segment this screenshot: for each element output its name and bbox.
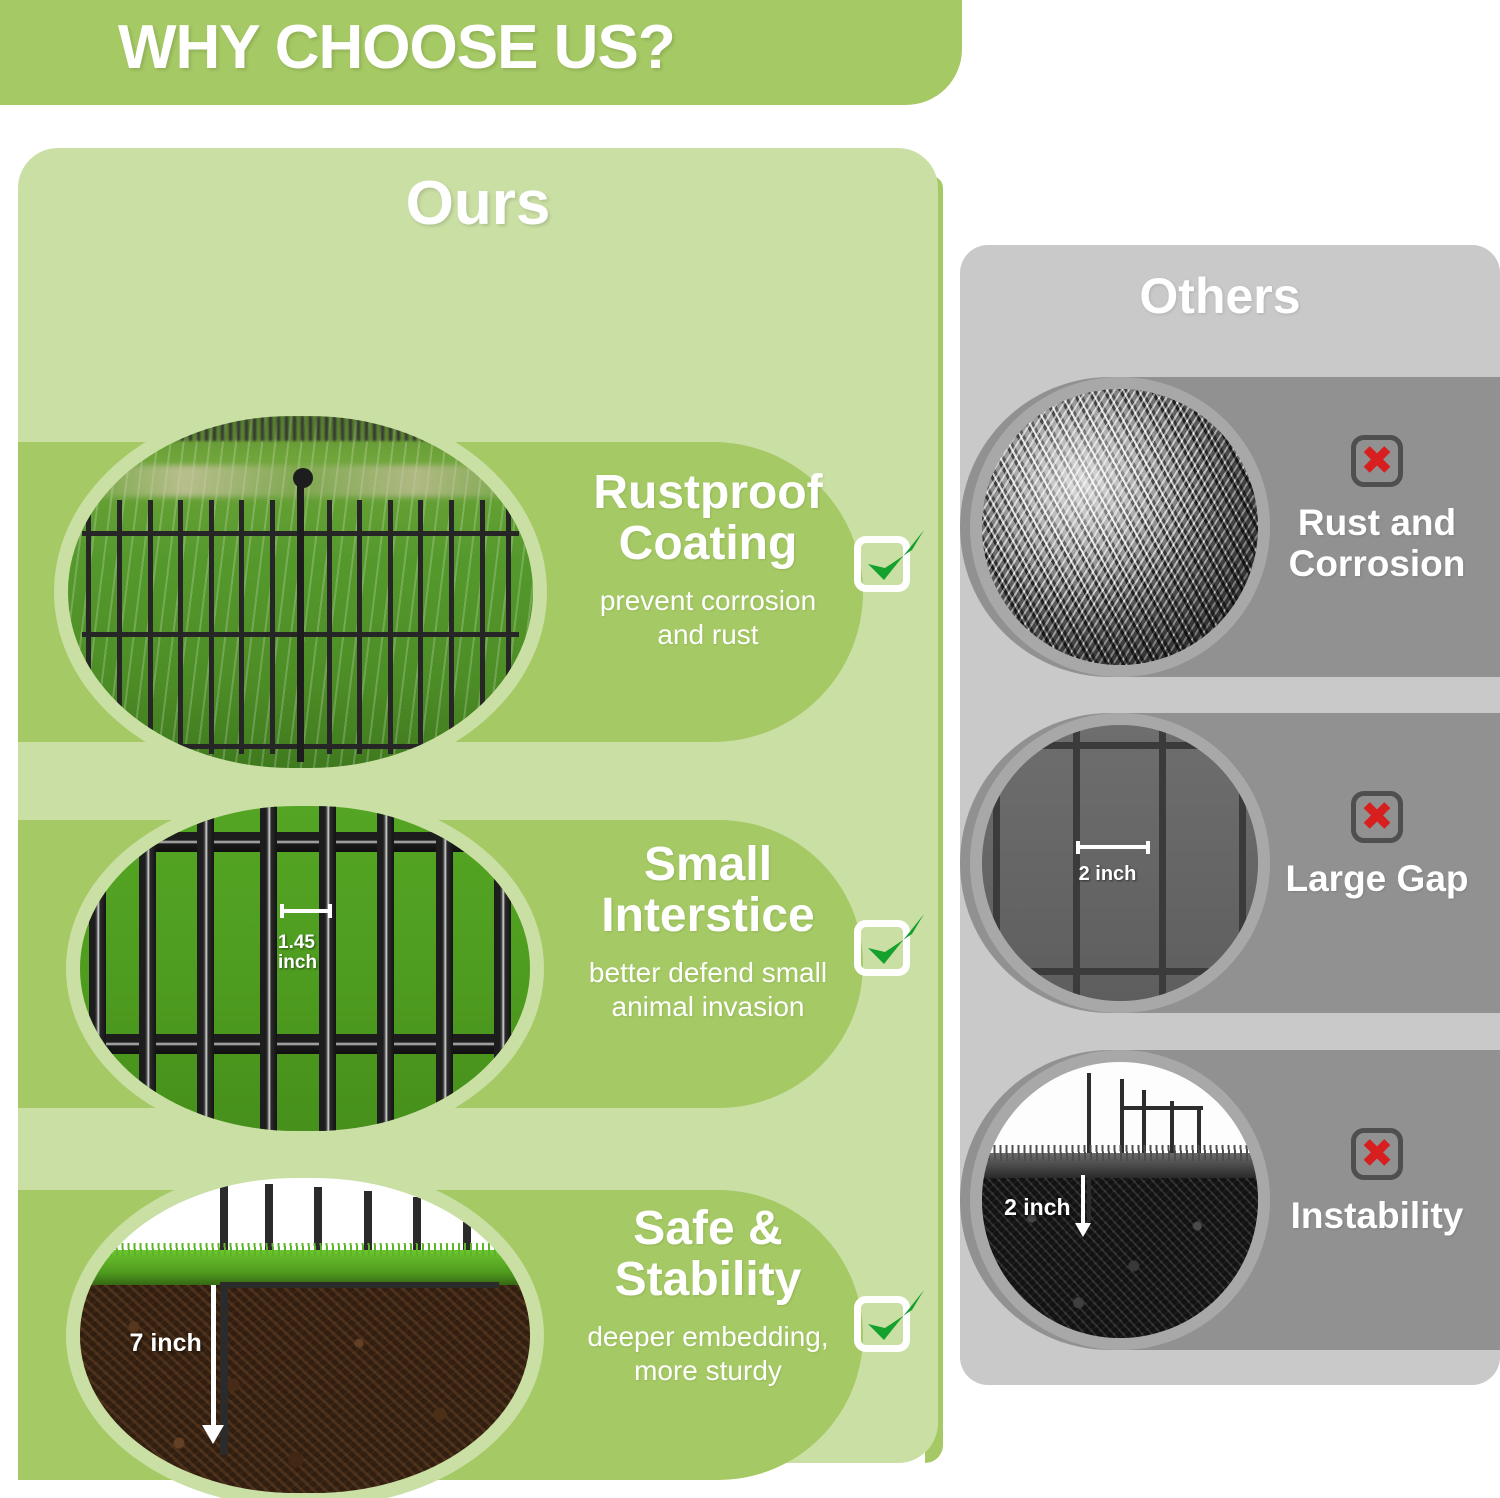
others-feature-label: Large Gap bbox=[1272, 859, 1482, 900]
fence-illustration bbox=[82, 500, 519, 753]
others-panel: Others ✖ Rust and Corrosion 2 inch ✖ bbox=[960, 245, 1500, 1385]
x-icon: ✖ bbox=[1351, 1128, 1403, 1180]
large-gap-photo: 2 inch bbox=[982, 725, 1258, 1001]
depth-arrow bbox=[211, 1285, 216, 1427]
others-feature-label: Rust and Corrosion bbox=[1272, 503, 1482, 584]
safe-stability-photo: 7 inch bbox=[80, 1178, 530, 1493]
others-text-block: ✖ Instability bbox=[1272, 1128, 1482, 1237]
ours-feature-row: 7 inch Safe & Stability deeper embedding… bbox=[18, 1168, 938, 1498]
check-icon bbox=[854, 920, 924, 990]
measure-caliper bbox=[280, 904, 332, 918]
instability-photo: 2 inch bbox=[982, 1062, 1258, 1338]
feature-text-block: Small Interstice better defend small ani… bbox=[543, 798, 873, 1024]
feature-title: Rustproof Coating bbox=[543, 468, 873, 570]
x-icon: ✖ bbox=[1351, 435, 1403, 487]
measure-caliper bbox=[1076, 841, 1150, 854]
x-icon: ✖ bbox=[1351, 791, 1403, 843]
measure-label: 1.45 inch bbox=[278, 933, 317, 973]
others-feature-row: 2 inch ✖ Instability bbox=[960, 1050, 1500, 1350]
others-feature-row: ✖ Rust and Corrosion bbox=[960, 377, 1500, 677]
others-feature-row: 2 inch ✖ Large Gap bbox=[960, 713, 1500, 1013]
ours-feature-row: 1.45 inch Small Interstice better defend… bbox=[18, 798, 938, 1138]
feature-title: Safe & Stability bbox=[543, 1204, 873, 1306]
rust-corrosion-photo bbox=[982, 389, 1258, 665]
measure-label: 2 inch bbox=[1079, 863, 1137, 886]
check-icon bbox=[854, 536, 924, 606]
rustproof-coating-photo bbox=[68, 416, 533, 768]
ours-panel: Ours Rustproo bbox=[18, 148, 938, 1463]
feature-description: better defend small animal invasion bbox=[543, 956, 873, 1024]
feature-text-block: Safe & Stability deeper embedding, more … bbox=[543, 1168, 873, 1388]
small-interstice-photo: 1.45 inch bbox=[80, 806, 530, 1131]
check-icon bbox=[854, 1296, 924, 1366]
page-title: WHY CHOOSE US? bbox=[118, 12, 675, 83]
others-text-block: ✖ Large Gap bbox=[1272, 791, 1482, 900]
feature-title: Small Interstice bbox=[543, 840, 873, 942]
measure-label: 2 inch bbox=[1004, 1194, 1070, 1221]
feature-description: deeper embedding, more sturdy bbox=[543, 1320, 873, 1388]
ours-panel-title: Ours bbox=[18, 168, 938, 239]
header-banner: WHY CHOOSE US? bbox=[0, 0, 962, 105]
depth-arrow bbox=[1081, 1175, 1085, 1225]
others-text-block: ✖ Rust and Corrosion bbox=[1272, 435, 1482, 584]
ours-feature-row: Rustproof Coating prevent corrosion and … bbox=[18, 416, 938, 768]
others-panel-title: Others bbox=[960, 267, 1480, 325]
measure-label: 7 inch bbox=[130, 1329, 202, 1358]
others-feature-label: Instability bbox=[1272, 1196, 1482, 1237]
feature-description: prevent corrosion and rust bbox=[543, 584, 873, 652]
feature-text-block: Rustproof Coating prevent corrosion and … bbox=[543, 416, 873, 652]
